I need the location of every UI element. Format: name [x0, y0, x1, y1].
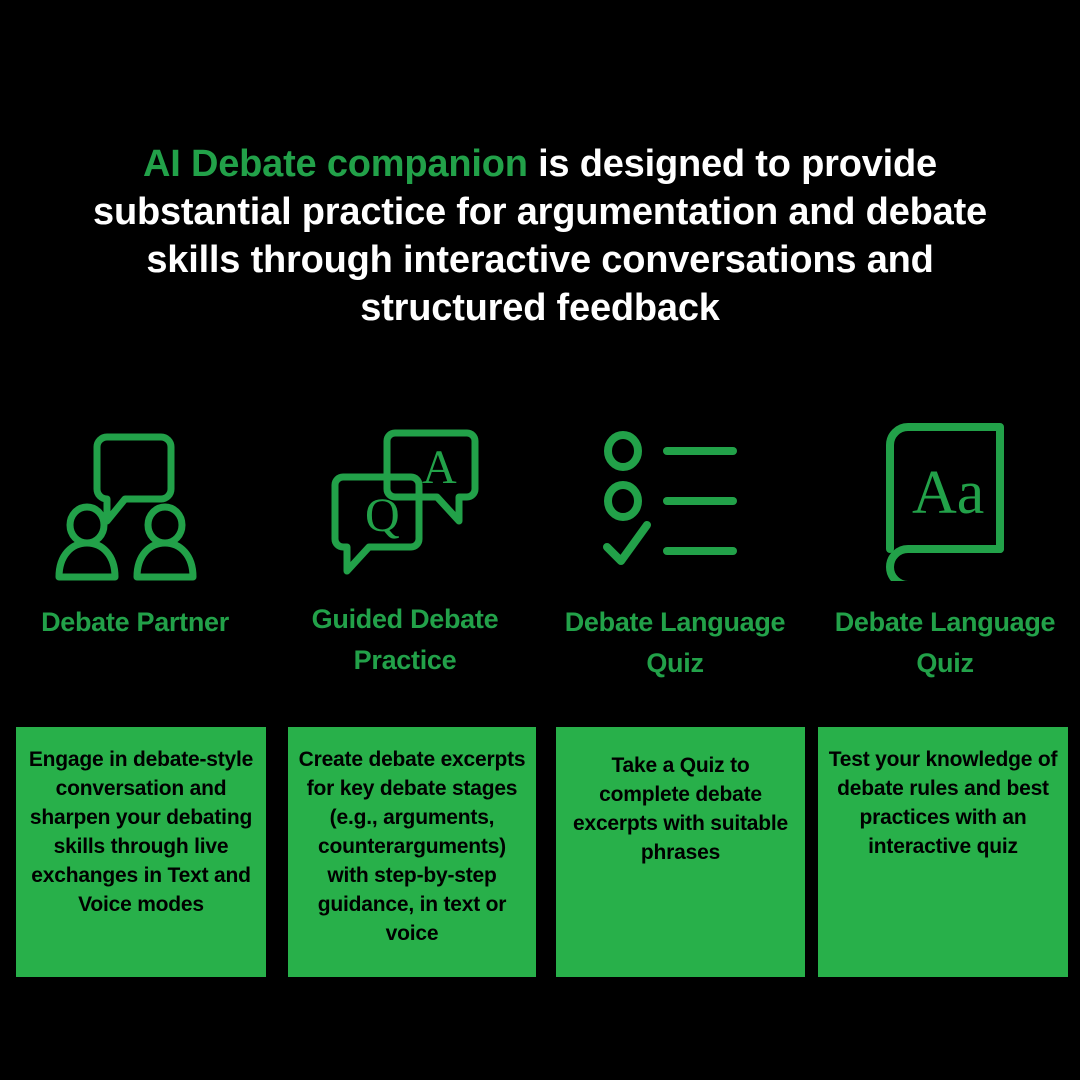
feature-title: Debate Language Quiz [540, 602, 810, 684]
people-speech-bubble-icon [0, 408, 270, 593]
book-aa-icon: Aa [810, 408, 1080, 593]
feature-description-card: Engage in debate-style conversation and … [16, 727, 266, 977]
promo-graphic: AI Debate companion is designed to provi… [0, 0, 1080, 1080]
headline-accent-text: AI Debate companion [143, 143, 528, 185]
feature-title: Debate Language Quiz [810, 602, 1080, 684]
svg-text:Aa: Aa [912, 459, 984, 527]
feature-description-card: Take a Quiz to complete debate excerpts … [556, 727, 805, 977]
qa-speech-bubbles-icon: Q A [270, 408, 540, 593]
checklist-quiz-icon [540, 408, 810, 593]
feature-title: Debate Partner [0, 602, 270, 643]
svg-text:Q: Q [365, 489, 400, 542]
feature-description-cards: Engage in debate-style conversation and … [0, 727, 1080, 977]
feature-description-card: Create debate excerpts for key debate st… [288, 727, 536, 977]
page-headline: AI Debate companion is designed to provi… [50, 140, 1030, 332]
svg-text:A: A [422, 441, 457, 494]
feature-title: Guided Debate Practice [270, 599, 540, 681]
feature-description-card: Test your knowledge of debate rules and … [818, 727, 1068, 977]
